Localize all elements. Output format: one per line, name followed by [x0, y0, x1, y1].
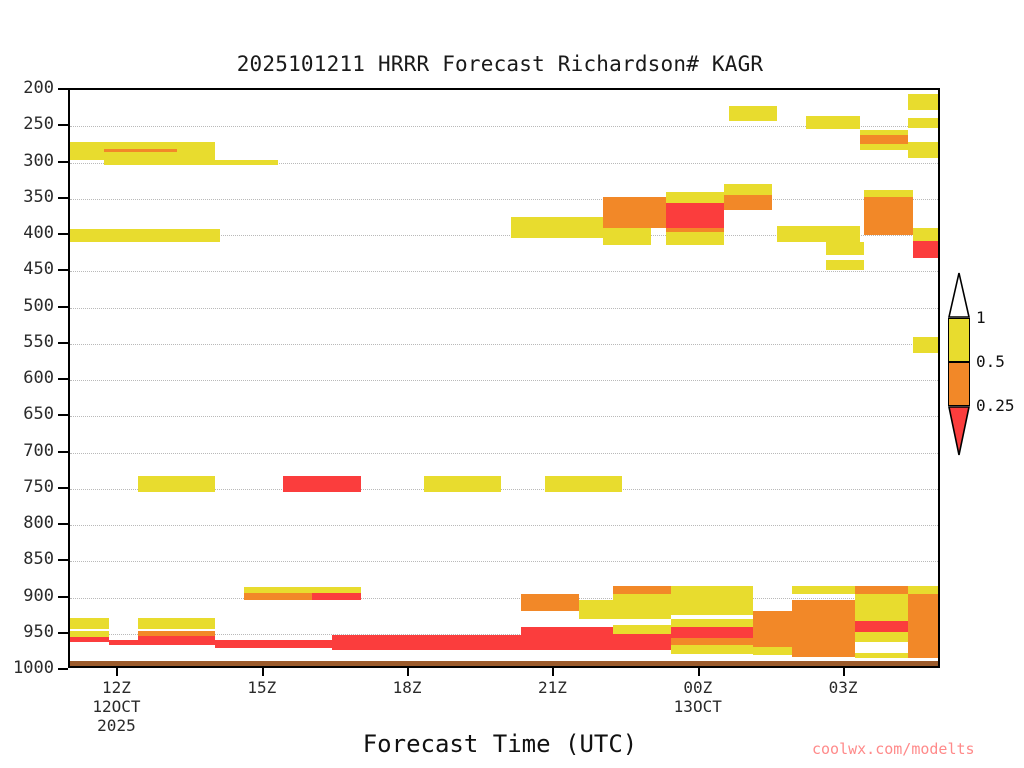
y-tick-label: 900 — [0, 586, 54, 606]
x-tick — [552, 668, 554, 676]
colorbar-tick-label: 0.25 — [976, 396, 1015, 415]
heatmap-cell — [724, 184, 772, 195]
heatmap-cell — [864, 190, 912, 197]
watermark: coolwx.com/modelts — [812, 740, 975, 758]
heatmap-cell — [613, 625, 671, 634]
y-tick — [58, 668, 68, 670]
y-tick — [58, 559, 68, 561]
heatmap-cell — [671, 600, 753, 615]
x-tick-label: 18Z — [347, 678, 467, 697]
x-tick — [407, 668, 409, 676]
y-tick-label: 200 — [0, 78, 54, 98]
heatmap-cell — [613, 634, 671, 650]
y-tick-label: 550 — [0, 332, 54, 352]
x-tick-label: 21Z — [492, 678, 612, 697]
heatmap-cell — [753, 611, 797, 621]
heatmap-cell — [792, 622, 855, 635]
x-tick-label: 12Z12OCT2025 — [56, 678, 176, 735]
heatmap-cell — [424, 476, 502, 492]
heatmap-cell — [826, 260, 865, 270]
heatmap-cell — [613, 586, 671, 594]
y-tick — [58, 523, 68, 525]
heatmap-cell — [913, 337, 940, 354]
y-tick-label: 1000 — [0, 658, 54, 678]
heatmap-cell — [70, 618, 109, 629]
heatmap-cell — [908, 94, 940, 110]
gridline — [70, 453, 938, 455]
x-tick-label: 00Z13OCT — [638, 678, 758, 716]
y-tick — [58, 233, 68, 235]
y-tick — [58, 161, 68, 163]
terrain-band — [70, 661, 938, 668]
x-tick-label: 03Z — [783, 678, 903, 697]
heatmap-cell — [244, 593, 312, 600]
y-tick — [58, 596, 68, 598]
gridline — [70, 525, 938, 527]
heatmap-cell — [855, 632, 908, 642]
colorbar-tick-label: 1 — [976, 308, 986, 327]
heatmap-cell — [671, 627, 753, 639]
heatmap-cell — [908, 142, 940, 158]
heatmap-cell — [511, 228, 603, 237]
heatmap-cell — [70, 637, 109, 642]
heatmap-cell — [521, 627, 613, 650]
colorbar-over-arrow — [948, 272, 970, 318]
y-tick — [58, 124, 68, 126]
y-tick-label: 650 — [0, 404, 54, 424]
heatmap-cell — [312, 593, 360, 600]
heatmap-cell — [913, 228, 940, 241]
heatmap-cell — [855, 621, 908, 633]
y-tick — [58, 487, 68, 489]
gridline — [70, 271, 938, 273]
y-tick-label: 400 — [0, 223, 54, 243]
heatmap-cell — [666, 203, 724, 228]
heatmap-cell — [908, 650, 940, 659]
chart-root: 2025101211 HRRR Forecast Richardson# KAG… — [0, 0, 1024, 768]
heatmap-cell — [729, 106, 777, 121]
gridline — [70, 380, 938, 382]
heatmap-cell — [138, 618, 216, 629]
heatmap-cell — [908, 638, 940, 650]
heatmap-cell — [792, 635, 855, 650]
y-tick — [58, 306, 68, 308]
y-tick — [58, 197, 68, 199]
x-tick — [116, 668, 118, 676]
heatmap-cell — [579, 600, 671, 620]
y-tick — [58, 342, 68, 344]
x-tick-label-date: 12OCT — [56, 697, 176, 716]
heatmap-cell — [908, 611, 940, 626]
heatmap-cell — [864, 197, 912, 235]
heatmap-cell — [104, 149, 177, 152]
y-tick-label: 600 — [0, 368, 54, 388]
plot-area — [68, 88, 940, 668]
heatmap-cell — [753, 632, 792, 647]
y-tick-label: 450 — [0, 259, 54, 279]
gridline — [70, 199, 938, 201]
heatmap-cell — [792, 613, 855, 622]
heatmap-cell — [792, 586, 855, 594]
gridline — [70, 308, 938, 310]
y-tick-label: 850 — [0, 549, 54, 569]
heatmap-cell — [792, 650, 855, 657]
x-tick-label-time: 00Z — [683, 678, 712, 697]
y-tick-label: 500 — [0, 296, 54, 316]
heatmap-cell — [855, 653, 908, 659]
x-tick-label: 15Z — [202, 678, 322, 697]
heatmap-cell — [603, 228, 651, 245]
heatmap-cell — [215, 640, 331, 649]
y-tick-label: 950 — [0, 622, 54, 642]
heatmap-cell — [908, 118, 940, 128]
heatmap-cell — [138, 476, 216, 492]
heatmap-cell — [860, 144, 908, 150]
y-tick-label: 700 — [0, 441, 54, 461]
y-tick — [58, 414, 68, 416]
heatmap-cell — [666, 192, 724, 204]
heatmap-cell — [913, 241, 940, 258]
heatmap-cell — [603, 197, 666, 228]
heatmap-cell — [283, 476, 361, 492]
heatmap-cell — [671, 645, 753, 654]
gridline — [70, 416, 938, 418]
y-tick — [58, 269, 68, 271]
heatmap-cell — [806, 116, 859, 129]
y-tick-label: 800 — [0, 513, 54, 533]
heatmap-cell — [860, 135, 908, 144]
x-tick-label-time: 18Z — [393, 678, 422, 697]
x-tick — [698, 668, 700, 676]
gridline — [70, 561, 938, 563]
heatmap-cell — [545, 476, 623, 492]
heatmap-cell — [671, 586, 753, 600]
heatmap-cell — [724, 195, 772, 210]
x-tick-label-time: 12Z — [102, 678, 131, 697]
heatmap-cell — [908, 625, 940, 638]
y-tick-label: 250 — [0, 114, 54, 134]
heatmap-cell — [521, 594, 579, 611]
heatmap-cell — [671, 638, 753, 645]
heatmap-cell — [70, 229, 220, 241]
colorbar-segment — [948, 318, 970, 362]
heatmap-cell — [777, 226, 859, 242]
heatmap-cell — [138, 636, 216, 645]
gridline — [70, 344, 938, 346]
heatmap-cell — [666, 232, 724, 245]
heatmap-cell — [332, 635, 521, 650]
x-tick-label-time: 03Z — [829, 678, 858, 697]
heatmap-cell — [613, 594, 671, 600]
heatmap-cell — [855, 594, 908, 611]
heatmap-cell — [511, 217, 603, 229]
y-tick-label: 750 — [0, 477, 54, 497]
heatmap-cell — [753, 647, 792, 656]
colorbar-segment — [948, 362, 970, 406]
y-tick-label: 350 — [0, 187, 54, 207]
heatmap-cell — [70, 631, 109, 638]
heatmap-cell — [792, 600, 855, 614]
x-tick-label-time: 15Z — [247, 678, 276, 697]
heatmap-cell — [855, 611, 908, 621]
y-tick — [58, 378, 68, 380]
heatmap-cell — [671, 619, 753, 626]
x-tick-label-time: 21Z — [538, 678, 567, 697]
heatmap-cell — [104, 160, 278, 165]
heatmap-cell — [826, 242, 865, 255]
heatmap-cell — [908, 586, 940, 594]
x-tick-label-date: 13OCT — [638, 697, 758, 716]
heatmap-cell — [908, 594, 940, 611]
colorbar-tick-label: 0.5 — [976, 352, 1005, 371]
y-tick — [58, 88, 68, 90]
heatmap-cell — [109, 640, 138, 646]
heatmap-cell — [753, 621, 792, 633]
heatmap-cell — [855, 586, 908, 594]
heatmap-cell — [855, 642, 908, 652]
y-tick-label: 300 — [0, 151, 54, 171]
y-tick — [58, 451, 68, 453]
colorbar-under-arrow — [948, 406, 970, 456]
y-tick — [58, 632, 68, 634]
x-tick — [843, 668, 845, 676]
chart-title: 2025101211 HRRR Forecast Richardson# KAG… — [0, 52, 1000, 76]
x-tick — [262, 668, 264, 676]
